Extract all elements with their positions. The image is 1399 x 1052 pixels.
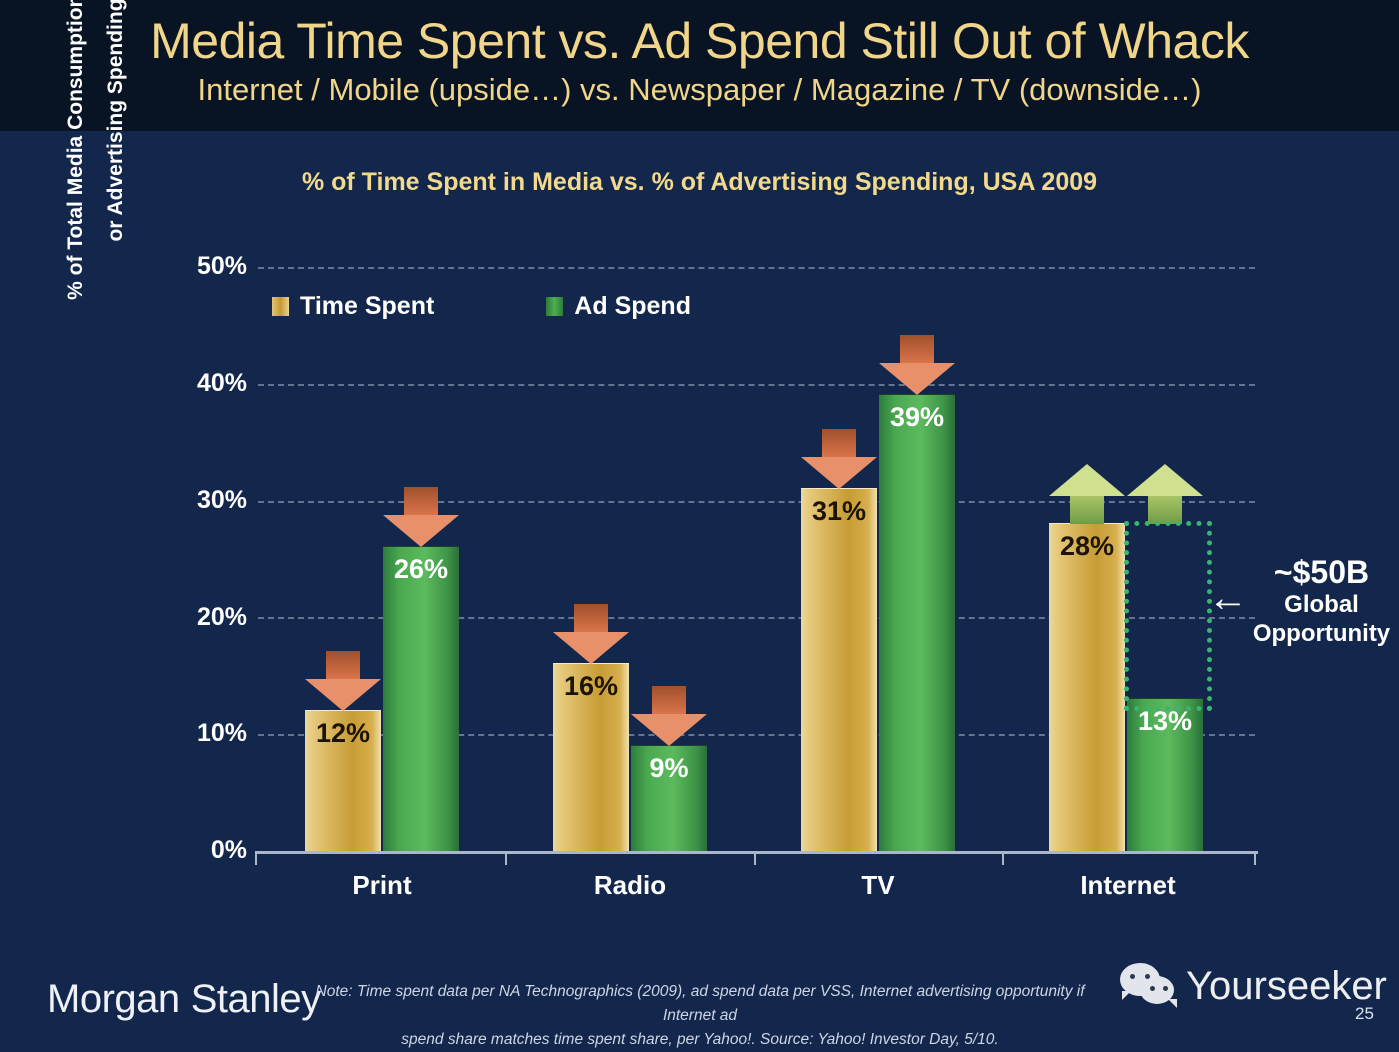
- y-tick-10: 10%: [127, 719, 247, 748]
- slide-subtitle: Internet / Mobile (upside…) vs. Newspape…: [0, 72, 1399, 108]
- opportunity-line2: Global: [1244, 590, 1399, 619]
- x-axis-label-tv: TV: [818, 870, 938, 901]
- logo-word-morgan: Morgan: [47, 977, 180, 1021]
- bar-radio-ad-spend[interactable]: 9%: [631, 745, 707, 851]
- arrow-head: [1127, 464, 1203, 496]
- y-axis-label-line2: or Advertising Spending: [104, 0, 128, 330]
- y-tick-40: 40%: [127, 369, 247, 398]
- bar-value-radio-time-spent: 16%: [553, 671, 629, 702]
- opportunity-arrow-icon: ←: [1208, 578, 1248, 618]
- gridline-40: [258, 384, 1255, 386]
- bar-print-time-spent[interactable]: 12%: [305, 710, 381, 851]
- x-axis-tick-2: [754, 851, 756, 865]
- bar-tv-time-spent[interactable]: 31%: [801, 488, 877, 851]
- arrow-head: [553, 632, 629, 664]
- bar-value-radio-ad-spend: 9%: [631, 753, 707, 784]
- watermark: Yourseeker: [1120, 963, 1387, 1009]
- wechat-dot-1: [1130, 974, 1135, 979]
- x-axis-label-radio: Radio: [570, 870, 690, 901]
- slide-header: Media Time Spent vs. Ad Spend Still Out …: [0, 0, 1399, 131]
- chart-title: % of Time Spent in Media vs. % of Advert…: [0, 168, 1399, 197]
- x-axis-end-left: [255, 851, 257, 865]
- opportunity-amount: ~$50B: [1244, 554, 1399, 590]
- footnote: Note: Time spent data per NA Technograph…: [300, 980, 1100, 1052]
- arrow-head: [879, 363, 955, 395]
- arrow-head: [305, 679, 381, 711]
- bar-value-tv-ad-spend: 39%: [879, 402, 955, 433]
- y-tick-20: 20%: [127, 603, 247, 632]
- x-axis-end-right: [1254, 851, 1256, 865]
- bar-value-print-ad-spend: 26%: [383, 554, 459, 585]
- x-axis-tick-3: [1002, 851, 1004, 865]
- arrow-shaft: [900, 335, 934, 363]
- arrow-head: [1049, 464, 1125, 496]
- opportunity-line3: Opportunity: [1244, 619, 1399, 648]
- bar-internet-time-spent[interactable]: 28%: [1049, 523, 1125, 851]
- x-axis-label-internet: Internet: [1058, 870, 1198, 901]
- arrow-shaft: [822, 429, 856, 457]
- opportunity-box: [1124, 521, 1212, 711]
- arrow-shaft: [326, 651, 360, 679]
- y-tick-50: 50%: [127, 252, 247, 281]
- wechat-icon: [1120, 963, 1182, 1009]
- wechat-tail-front: [1168, 999, 1177, 1008]
- opportunity-callout: ~$50B Global Opportunity: [1244, 554, 1399, 648]
- bar-value-print-time-spent: 12%: [305, 718, 381, 749]
- slide-title: Media Time Spent vs. Ad Spend Still Out …: [0, 12, 1399, 70]
- x-axis-label-print: Print: [322, 870, 442, 901]
- gridline-50: [258, 267, 1255, 269]
- bar-print-ad-spend[interactable]: 26%: [383, 546, 459, 851]
- x-axis-line: [255, 851, 1258, 854]
- wechat-dot-3: [1150, 986, 1155, 991]
- bar-value-tv-time-spent: 31%: [801, 496, 877, 527]
- morgan-stanley-logo: Morgan Stanley: [47, 977, 321, 1022]
- y-tick-30: 30%: [127, 486, 247, 515]
- arrow-shaft: [1148, 496, 1182, 524]
- footnote-line1: Note: Time spent data per NA Technograph…: [316, 983, 1085, 1024]
- bar-radio-time-spent[interactable]: 16%: [553, 663, 629, 851]
- wechat-dot-4: [1163, 986, 1168, 991]
- bar-value-internet-time-spent: 28%: [1049, 531, 1125, 562]
- arrow-head: [383, 515, 459, 547]
- arrow-shaft: [1070, 496, 1104, 524]
- arrow-head: [631, 714, 707, 746]
- watermark-text: Yourseeker: [1186, 964, 1387, 1009]
- wechat-tail-back: [1122, 991, 1131, 1000]
- bar-tv-ad-spend[interactable]: 39%: [879, 394, 955, 851]
- y-tick-0: 0%: [127, 836, 247, 865]
- arrow-head: [801, 457, 877, 489]
- x-axis-tick-1: [505, 851, 507, 865]
- footnote-line2: spend share matches time spent share, pe…: [300, 1028, 1100, 1052]
- arrow-shaft: [404, 487, 438, 515]
- wechat-dot-2: [1145, 974, 1150, 979]
- plot-area: 12% 26% 16% 9% 31% 39% 28% 13%: [258, 267, 1255, 851]
- arrow-shaft: [574, 604, 608, 632]
- arrow-shaft: [652, 686, 686, 714]
- bar-internet-ad-spend[interactable]: 13%: [1127, 698, 1203, 851]
- y-axis-label-line1: % of Total Media Consumption Time: [64, 0, 88, 330]
